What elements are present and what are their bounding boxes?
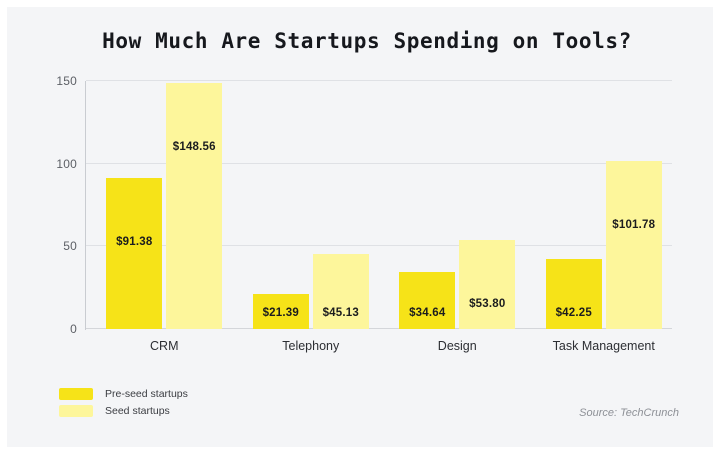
legend-item[interactable]: Pre-seed startups (59, 385, 188, 402)
plot-area: $91.38$148.56$21.39$45.13$34.64$53.80$42… (86, 81, 672, 329)
legend-label: Pre-seed startups (105, 388, 188, 400)
category-label: CRM (150, 339, 178, 353)
legend-swatch (59, 388, 93, 400)
y-tick-label: 50 (17, 239, 77, 253)
bar-value-label: $91.38 (106, 236, 162, 248)
bar-value-label: $101.78 (606, 219, 662, 231)
category-label: Task Management (553, 339, 655, 353)
legend-label: Seed startups (105, 405, 170, 417)
bar[interactable]: $53.80 (459, 240, 515, 329)
y-tick-label: 100 (17, 157, 77, 171)
gridline (86, 80, 672, 81)
chart-title: How Much Are Startups Spending on Tools? (7, 29, 720, 53)
chart-legend: Pre-seed startupsSeed startups (59, 385, 188, 419)
bar[interactable]: $148.56 (166, 83, 222, 329)
bar[interactable]: $34.64 (399, 272, 455, 329)
bar-value-label: $21.39 (253, 307, 309, 319)
y-axis-tick-labels: 050100150 (15, 81, 77, 329)
bar-value-label: $148.56 (166, 141, 222, 153)
legend-item[interactable]: Seed startups (59, 402, 188, 419)
category-label: Design (438, 339, 477, 353)
bar[interactable]: $42.25 (546, 259, 602, 329)
bar-value-label: $34.64 (399, 307, 455, 319)
y-tick-label: 150 (17, 74, 77, 88)
bar[interactable]: $101.78 (606, 161, 662, 329)
bar-value-label: $45.13 (313, 307, 369, 319)
chart-figure: How Much Are Startups Spending on Tools?… (0, 0, 720, 454)
bar[interactable]: $91.38 (106, 178, 162, 329)
bar-value-label: $53.80 (459, 298, 515, 310)
bar[interactable]: $45.13 (313, 254, 369, 329)
x-axis-category-labels: CRMTelephonyDesignTask Management (86, 339, 672, 361)
bar[interactable]: $21.39 (253, 294, 309, 329)
legend-swatch (59, 405, 93, 417)
source-note: Source: TechCrunch (579, 407, 679, 419)
category-label: Telephony (282, 339, 339, 353)
y-tick-label: 0 (17, 322, 77, 336)
bar-value-label: $42.25 (546, 307, 602, 319)
